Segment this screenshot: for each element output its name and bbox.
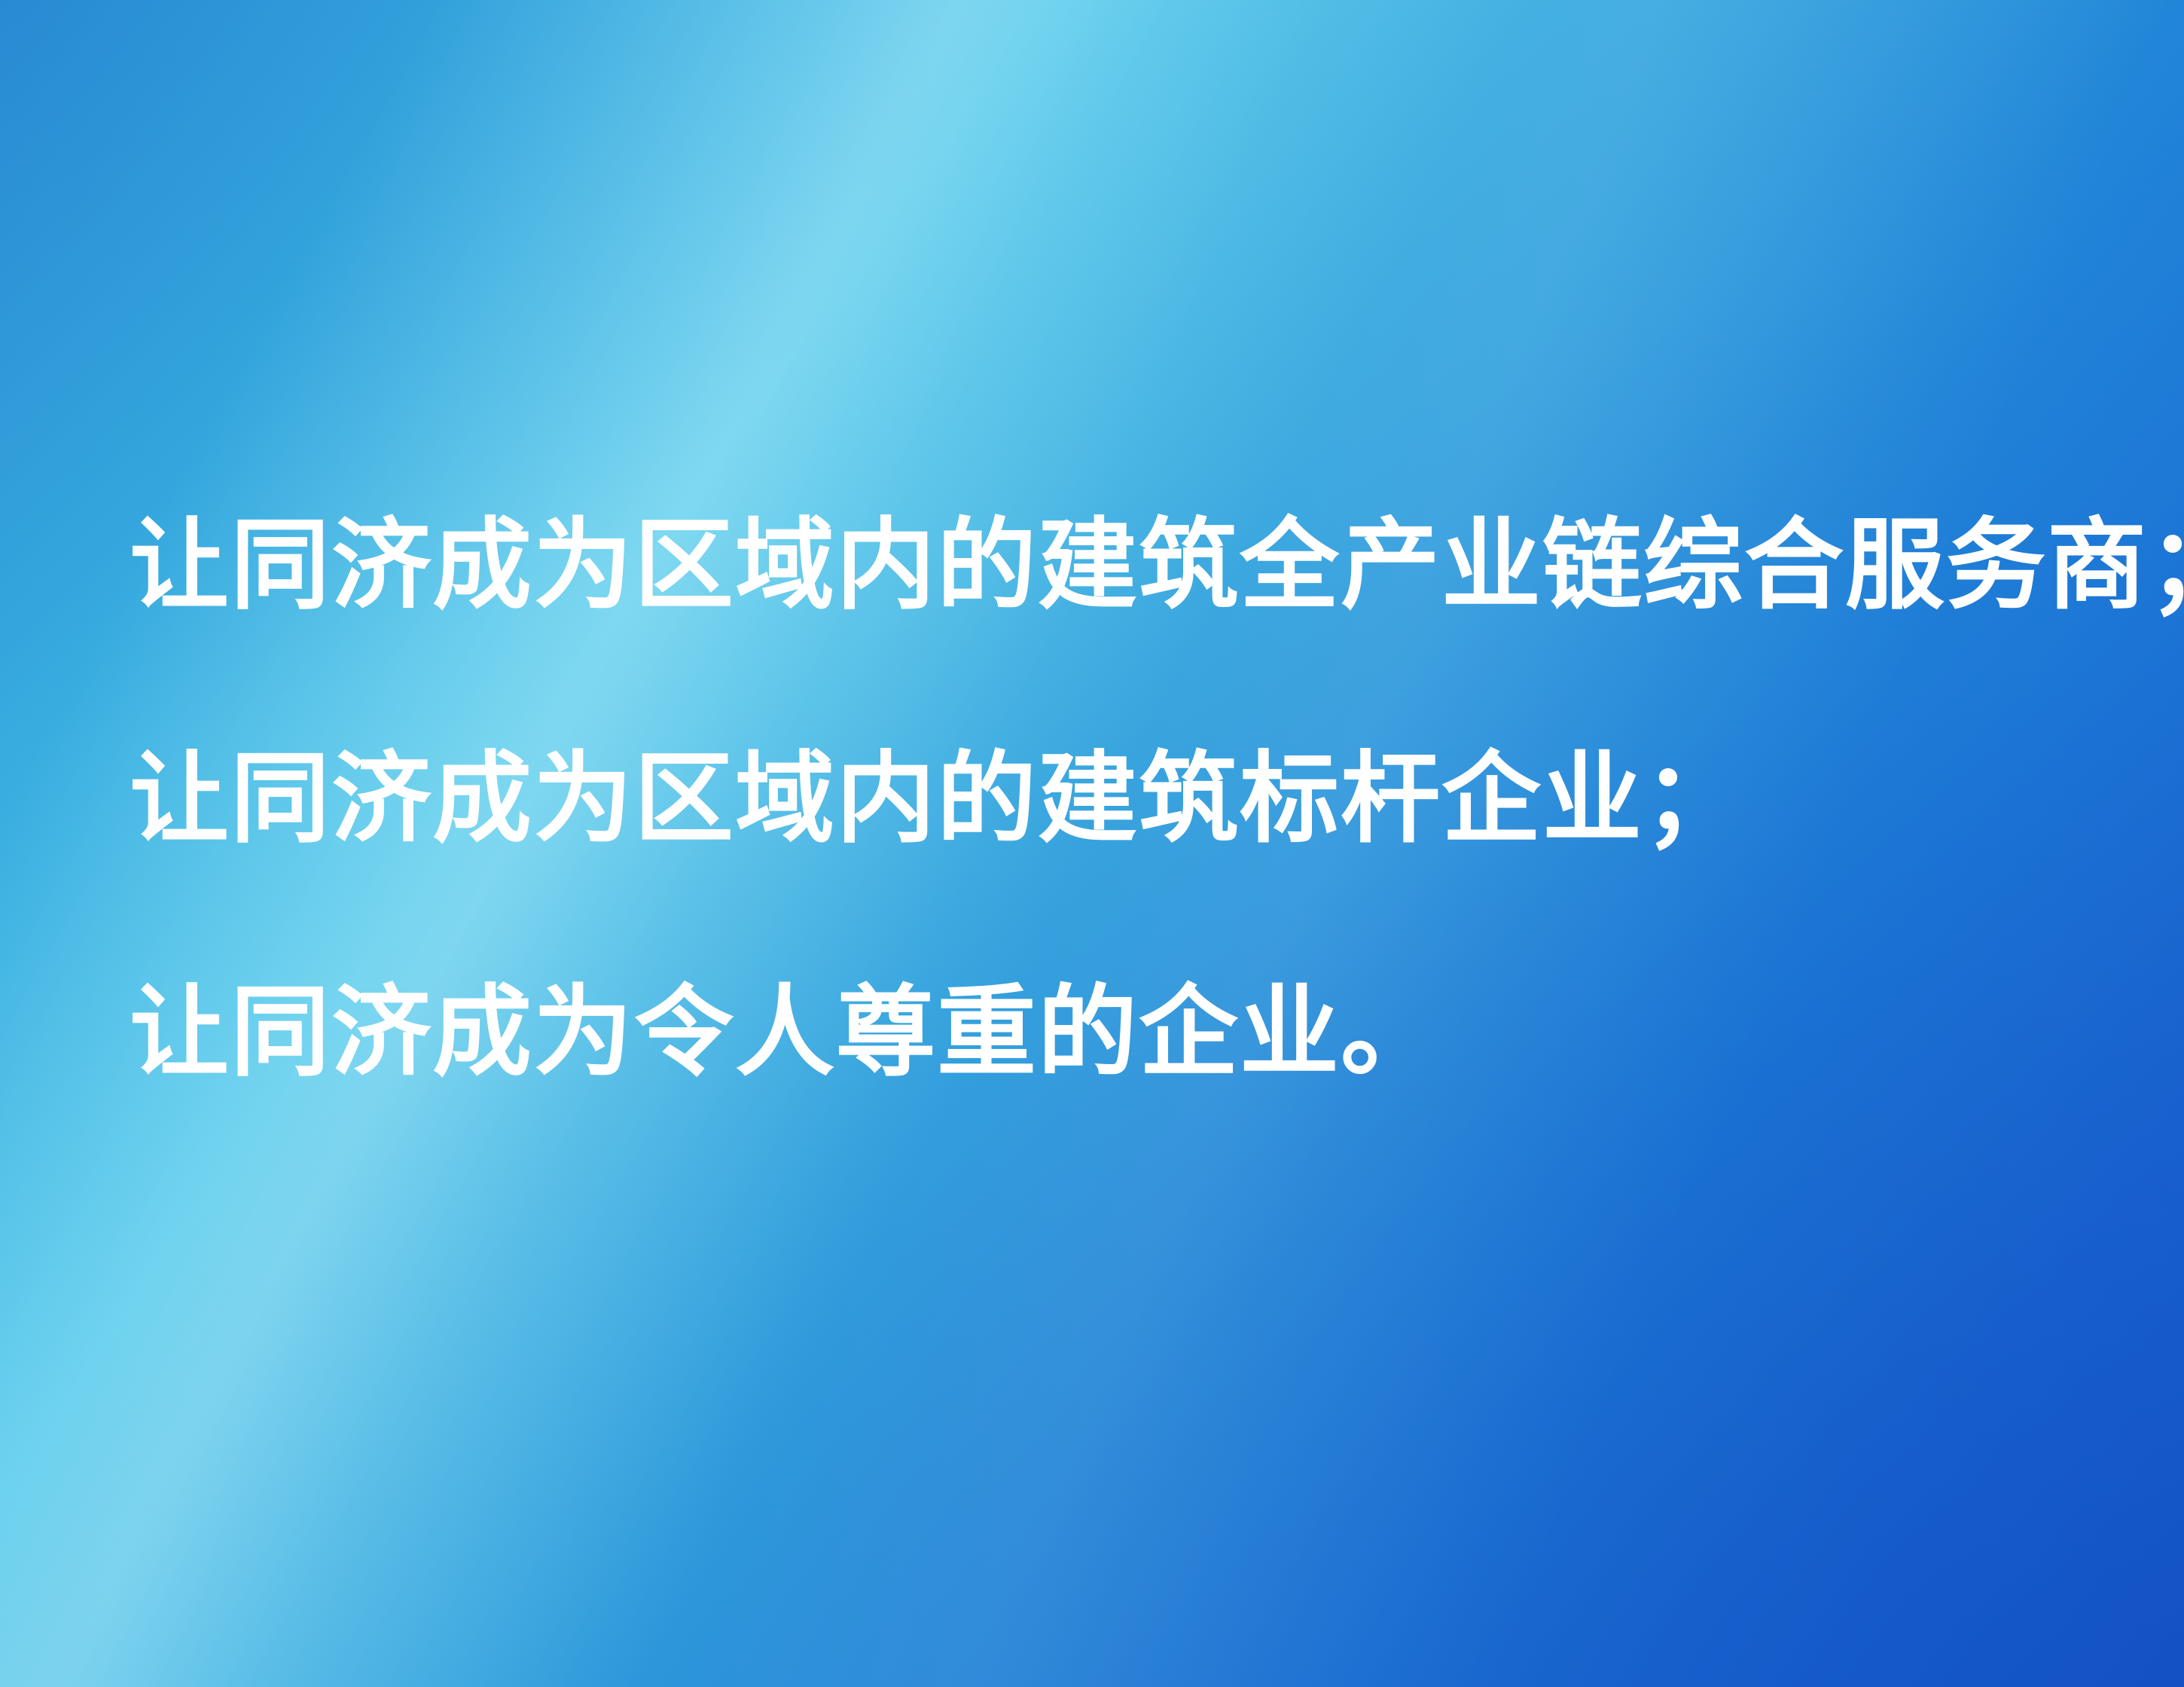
slide-text-line-3: 让同济成为令人尊重的企业。 — [130, 916, 2133, 1149]
presentation-slide: 让同济成为区域内的建筑全产业链综合服务商； 让同济成为区域内的建筑标杆企业； 让… — [0, 0, 2184, 1687]
slide-text-line-2: 让同济成为区域内的建筑标杆企业； — [130, 682, 2133, 916]
slide-text-line-1: 让同济成为区域内的建筑全产业链综合服务商； — [130, 449, 2133, 682]
slide-text-block: 让同济成为区域内的建筑全产业链综合服务商； 让同济成为区域内的建筑标杆企业； 让… — [130, 449, 2133, 1149]
